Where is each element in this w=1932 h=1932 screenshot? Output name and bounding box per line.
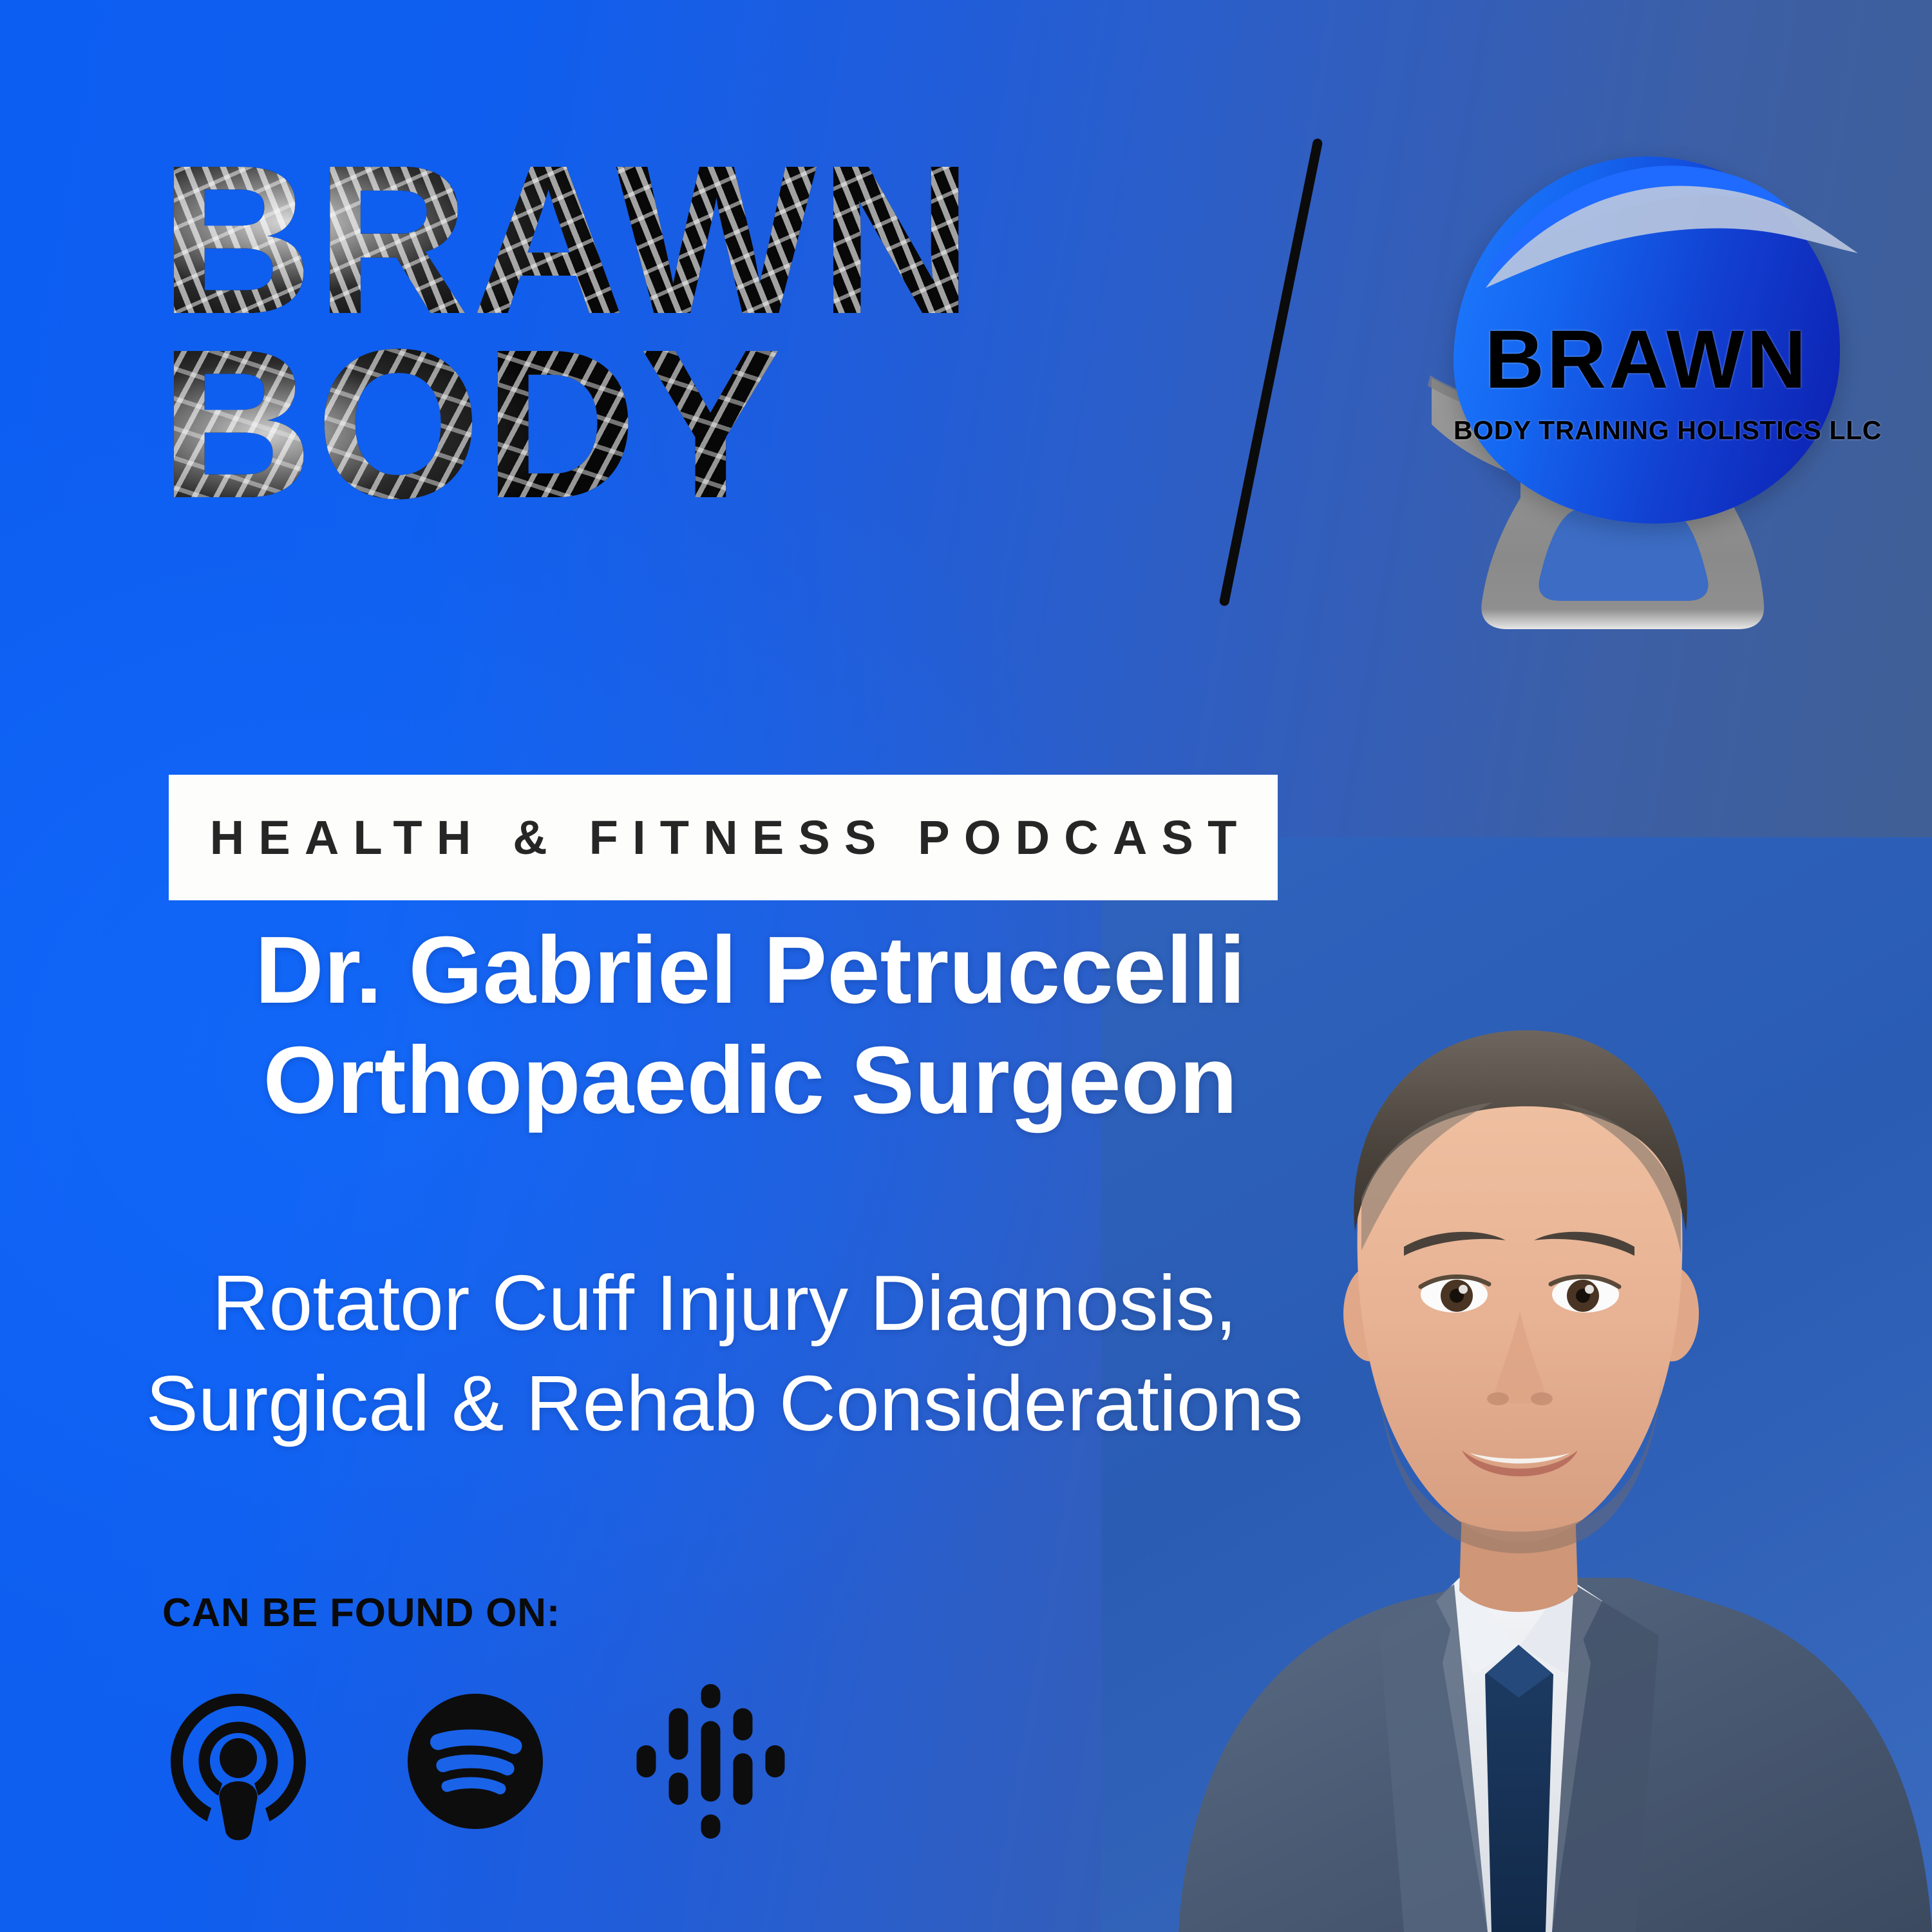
badge-subtitle: BODY TRAINING HOLISTICS LLC <box>1454 415 1840 446</box>
guest-name: Dr. Gabriel Petruccelli <box>103 922 1397 1019</box>
podcast-category-banner: HEALTH & FITNESS PODCAST <box>169 775 1278 900</box>
platform-icon-row <box>158 1681 793 1842</box>
guest-block: Dr. Gabriel Petruccelli Orthopaedic Surg… <box>103 922 1397 1130</box>
brawn-badge-logo: BRAWN BODY TRAINING HOLISTICS LLC <box>1414 145 1864 634</box>
found-on-label: CAN BE FOUND ON: <box>162 1590 560 1636</box>
guest-role: Orthopaedic Surgeon <box>103 1032 1397 1130</box>
slash-divider-icon <box>1218 138 1323 607</box>
wordmark-line-brawn: BRAWN <box>160 148 1216 331</box>
episode-title: Rotator Cuff Injury Diagnosis, Surgical … <box>97 1253 1352 1454</box>
badge-text-block: BRAWN BODY TRAINING HOLISTICS LLC <box>1454 319 1840 446</box>
wordmark-line-body: BODY <box>160 332 1216 515</box>
podcast-cover-art: BRAWN BODY BR <box>0 0 1932 1932</box>
banner-label: HEALTH & FITNESS PODCAST <box>196 810 1251 865</box>
badge-title: BRAWN <box>1454 319 1840 401</box>
apple-podcasts-icon[interactable] <box>158 1681 319 1842</box>
spotify-icon[interactable] <box>395 1681 556 1842</box>
brawn-body-wordmark: BRAWN BODY <box>160 148 1216 515</box>
google-podcasts-icon[interactable] <box>632 1681 793 1842</box>
